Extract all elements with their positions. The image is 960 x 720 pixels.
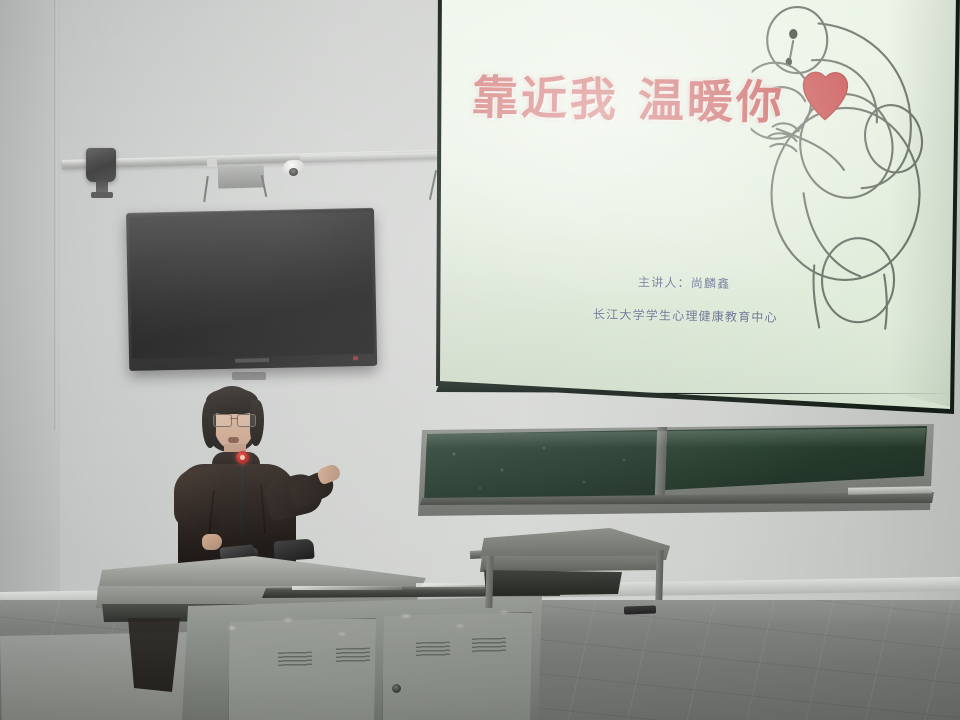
presenter-mouth [228, 437, 239, 443]
slide-presenter-line: 主讲人：尚麟鑫 [638, 273, 731, 292]
lectern-item-primary [273, 539, 314, 562]
cabinet-lock-icon[interactable] [392, 684, 401, 693]
cabinet-door-left[interactable] [228, 618, 380, 720]
cabinet-vent [472, 638, 506, 653]
conduit-clip [207, 157, 217, 167]
display-glare [129, 212, 374, 359]
dome-camera-lens-icon [289, 168, 298, 176]
slide: 靠近我 温暖你 主讲人：尚麟鑫 长江大学学生心理健康教育中心 [420, 0, 960, 437]
side-table[interactable] [470, 528, 670, 618]
display-power-led-icon [353, 356, 358, 360]
glasses-lens-left [213, 414, 232, 427]
display-logo [235, 358, 269, 363]
wall-speaker-base [91, 192, 113, 198]
wall-display[interactable] [126, 208, 377, 371]
wall-column-edge [54, 0, 57, 430]
presenter-hand-left [202, 534, 222, 550]
slide-title: 靠近我 温暖你 [471, 61, 792, 133]
slide-organization-line: 长江大学学生心理健康教育中心 [593, 305, 778, 326]
cabinet-vent [336, 648, 370, 663]
lectern-left-shadow [126, 618, 182, 692]
glasses-lens-right [237, 414, 256, 427]
presenter-hand-right [316, 462, 342, 485]
lecture-hall-photo: 靠近我 温暖你 主讲人：尚麟鑫 长江大学学生心理健康教育中心 [0, 0, 960, 720]
side-table-edge [480, 556, 666, 572]
side-table-underside [484, 570, 624, 596]
glasses-icon [212, 414, 256, 425]
wall-left-shadow [0, 0, 60, 640]
lectern-rail-highlight-left [292, 586, 402, 590]
side-table-leg-right [655, 550, 663, 600]
microphone-led-core [240, 455, 245, 460]
cabinet-vent [416, 642, 450, 657]
chalkboard-panel-left [424, 430, 660, 502]
chalk-tray-highlight [848, 486, 932, 494]
floor-object [624, 605, 656, 614]
cabinet-vent [278, 652, 312, 667]
projection-screen[interactable]: 靠近我 温暖你 主讲人：尚麟鑫 长江大学学生心理健康教育中心 [420, 0, 960, 442]
side-table-top [480, 528, 670, 560]
hug-illustration-icon [747, 0, 953, 340]
wall-speaker-icon [86, 148, 116, 182]
lectern-worktop [96, 556, 426, 590]
display-wall-mount [232, 372, 266, 380]
cabinet-door-right[interactable] [382, 612, 536, 720]
junction-box [218, 165, 265, 188]
side-table-leg-left [485, 556, 493, 608]
